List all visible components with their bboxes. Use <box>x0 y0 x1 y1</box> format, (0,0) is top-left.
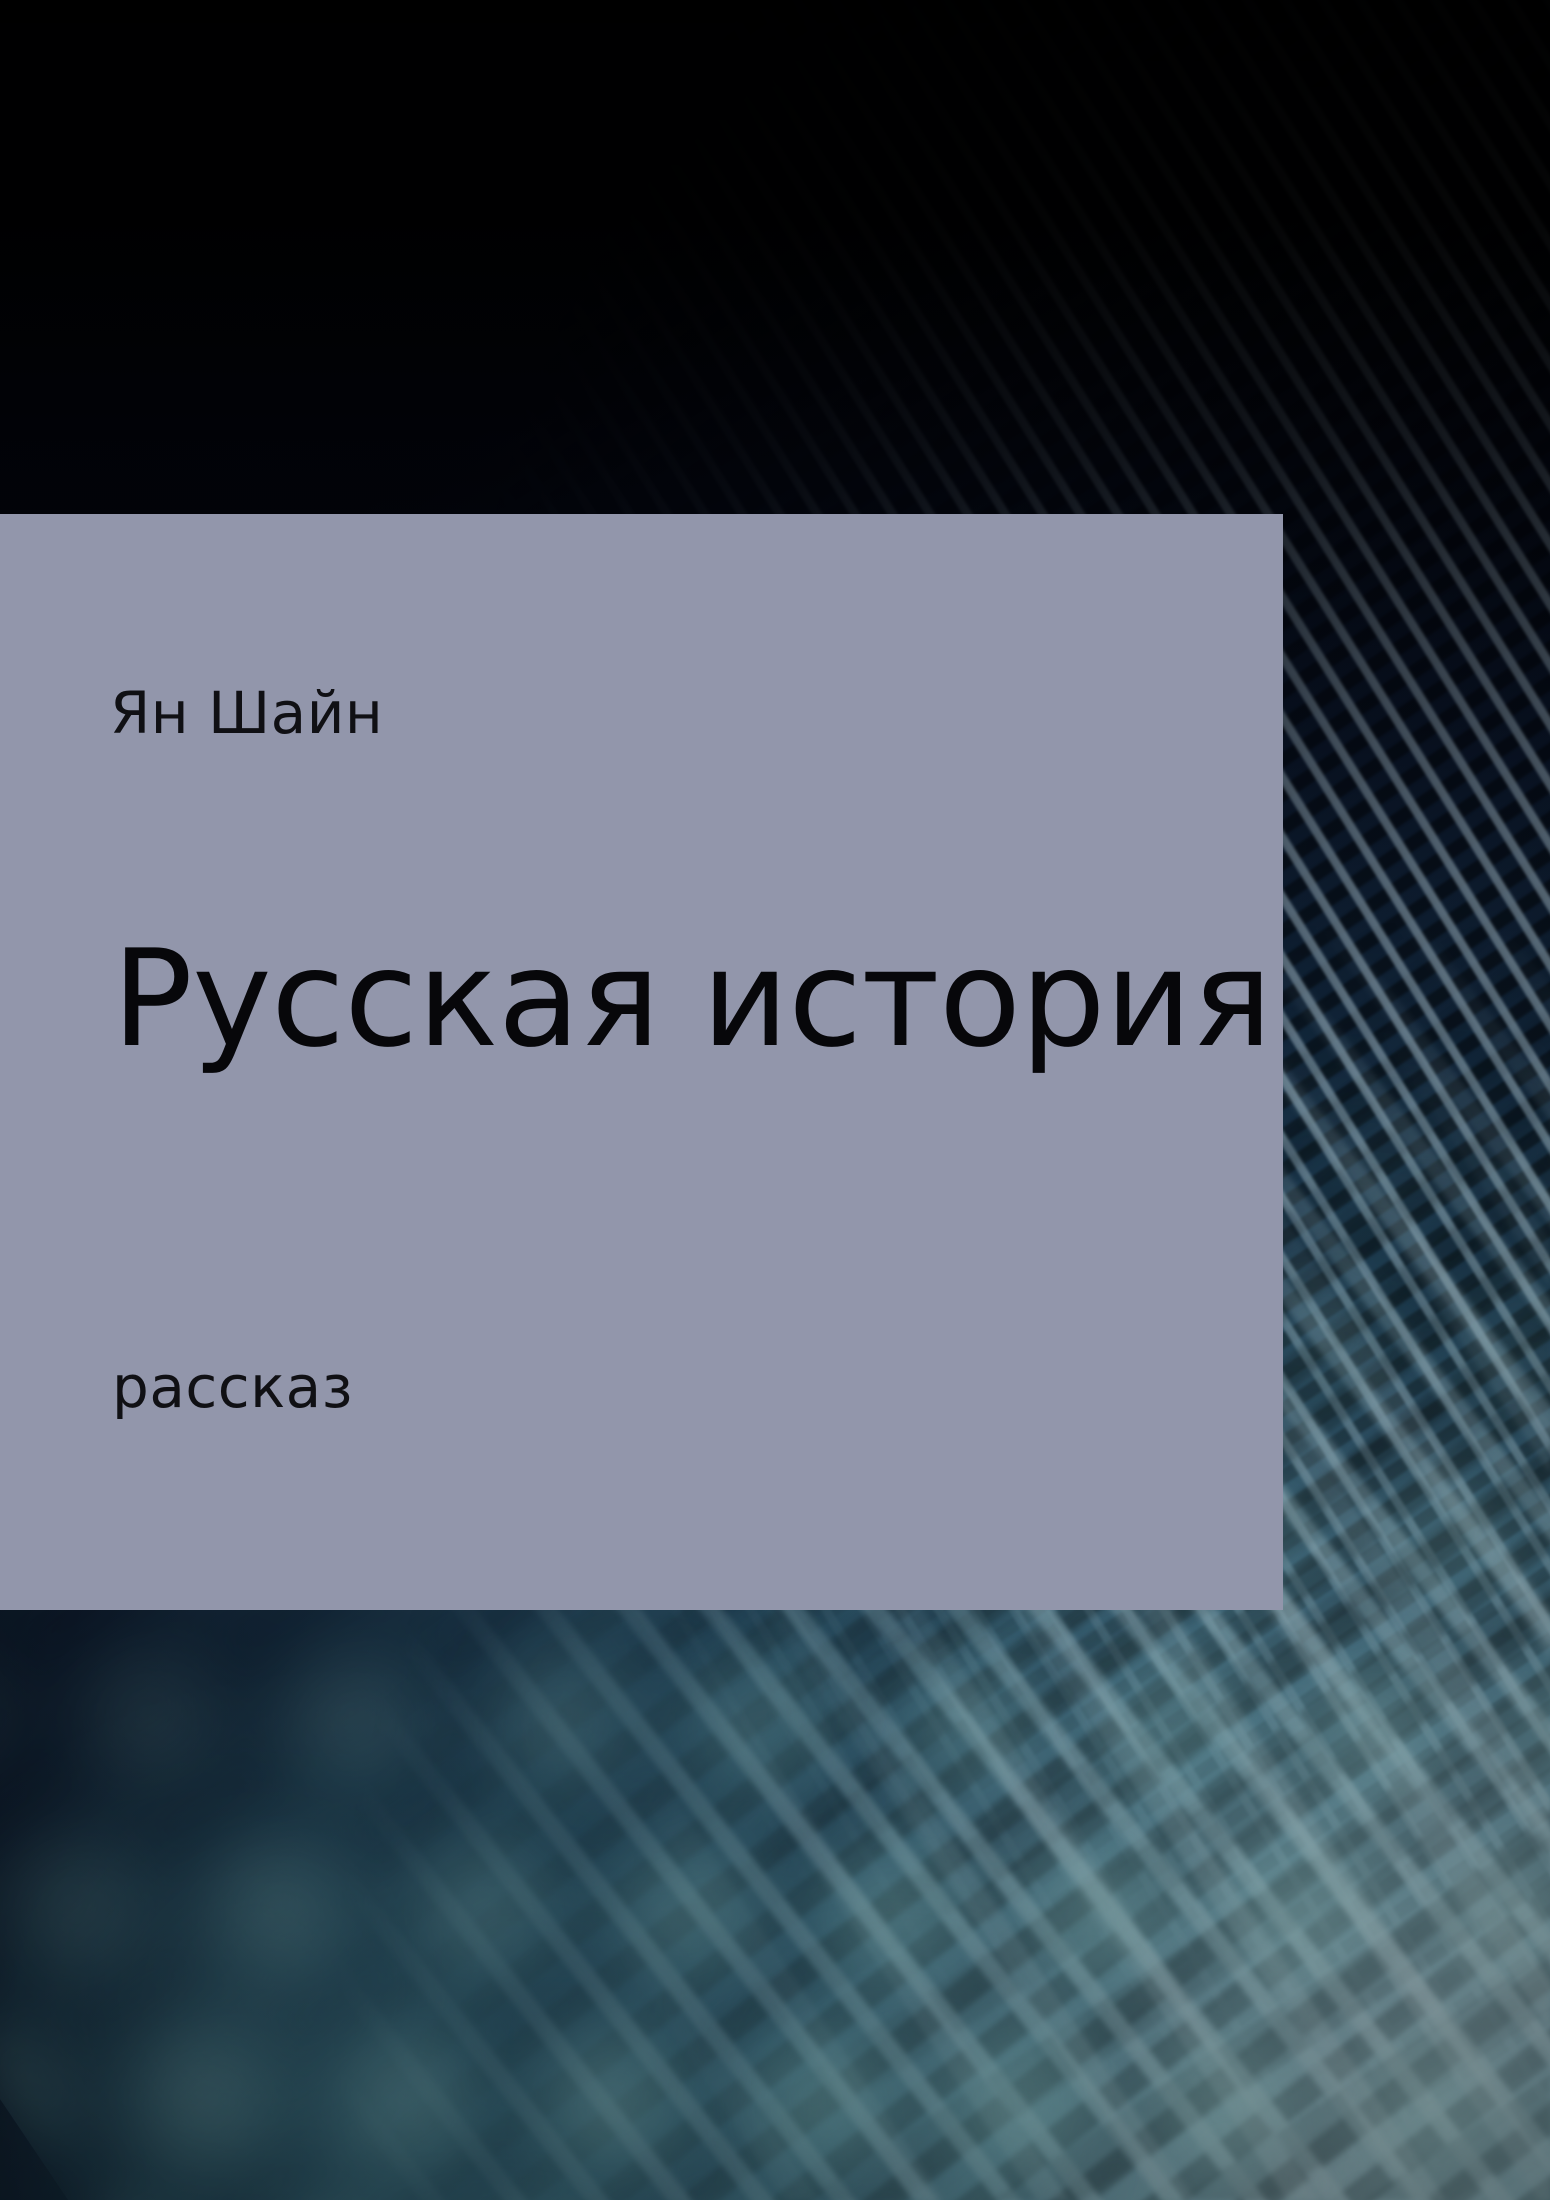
book-cover: Ян Шайн Русская история рассказ <box>0 0 1550 2200</box>
book-title: Русская история <box>112 932 1272 1066</box>
author-name: Ян Шайн <box>110 684 383 742</box>
book-subtitle: рассказ <box>112 1358 353 1416</box>
